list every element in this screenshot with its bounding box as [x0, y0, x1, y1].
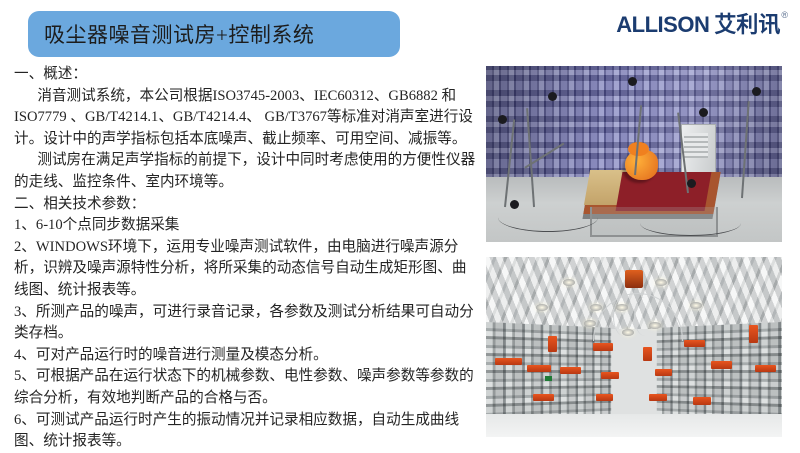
orange-wedge-10 [711, 361, 732, 368]
ceiling-light-2 [655, 279, 667, 286]
orange-wedge-1 [495, 358, 522, 365]
microphone-head-3 [628, 77, 637, 86]
orange-wedge-12 [755, 365, 776, 372]
photo-anechoic-chamber-with-vacuum-cleaner [486, 66, 782, 242]
page-header: 吸尘器噪音测试房+控制系统 ALLISON 艾利讯 ® [0, 0, 800, 62]
description-text-column: 一、概述： 消音测试系统，本公司根据ISO3745-2003、IEC60312、… [14, 64, 476, 446]
appliance-vent [684, 133, 708, 158]
title-banner: 吸尘器噪音测试房+控制系统 [28, 11, 400, 57]
logo-chinese-text: 艾利讯 [714, 12, 780, 38]
microphone-head-7 [687, 179, 696, 188]
orange-wedge-11 [749, 325, 758, 343]
orange-wedge-16 [693, 397, 711, 404]
spec-item-4: 4、可对产品运行时的噪音进行测量及模态分析。 [14, 345, 476, 367]
page-title: 吸尘器噪音测试房+控制系统 [44, 19, 314, 49]
orange-wedge-9 [684, 340, 705, 347]
orange-wedge-6 [601, 372, 619, 379]
dome-rib-1 [613, 297, 635, 337]
orange-wedge-15 [649, 394, 667, 401]
spec-item-3: 3、所测产品的噪声，可进行录音记录，各参数及测试分析结果可自动分类存档。 [14, 302, 476, 345]
orange-wedge-3 [548, 336, 557, 352]
orange-wedge-5 [593, 343, 614, 350]
spec-item-1: 1、6-10个点同步数据采集 [14, 215, 476, 237]
chamber-floor [486, 414, 782, 437]
orange-wedge-4 [560, 367, 581, 374]
exit-sign [545, 376, 552, 381]
section-1-paragraph-2: 测试房在满足声学指标的前提下，设计中同时考虑使用的方便性仪器的走线、监控条件、室… [14, 150, 476, 193]
orange-wedge-2 [527, 365, 551, 372]
orange-wedge-13 [533, 394, 554, 401]
spec-item-5: 5、可根据产品在运行状态下的机械参数、电性参数、噪声参数等参数的综合分析，有效地… [14, 366, 476, 409]
trademark-icon: ® [781, 10, 788, 20]
signal-cable-2 [640, 210, 741, 236]
platform-red-carpet [616, 172, 712, 211]
spec-item-6: 6、可测试产品运行时产生的振动情况并记录相应数据，自动生成曲线图、统计报表等。 [14, 410, 476, 453]
orange-wedge-8 [655, 369, 673, 376]
photo-semi-anechoic-chamber-interior [486, 257, 782, 437]
ceiling-light-4 [590, 304, 602, 311]
ceiling-light-1 [563, 279, 575, 286]
company-logo: ALLISON 艾利讯 ® [616, 12, 788, 38]
spec-item-2: 2、WINDOWS环境下，运用专业噪声测试软件，由电脑进行噪声源分析，识辨及噪声… [14, 237, 476, 302]
orange-wedge-14 [596, 394, 614, 401]
section-1-heading: 一、概述： [14, 64, 476, 86]
logo-latin-text: ALLISON [616, 12, 709, 38]
orange-wedge-7 [643, 347, 652, 361]
section-2-heading: 二、相关技术参数： [14, 194, 476, 216]
section-1-paragraph-1: 消音测试系统，本公司根据ISO3745-2003、IEC60312、GB6882… [14, 86, 476, 151]
ceiling-hoist-unit [625, 270, 643, 288]
ceiling-light-3 [536, 304, 548, 311]
dome-rib-2 [634, 297, 656, 337]
